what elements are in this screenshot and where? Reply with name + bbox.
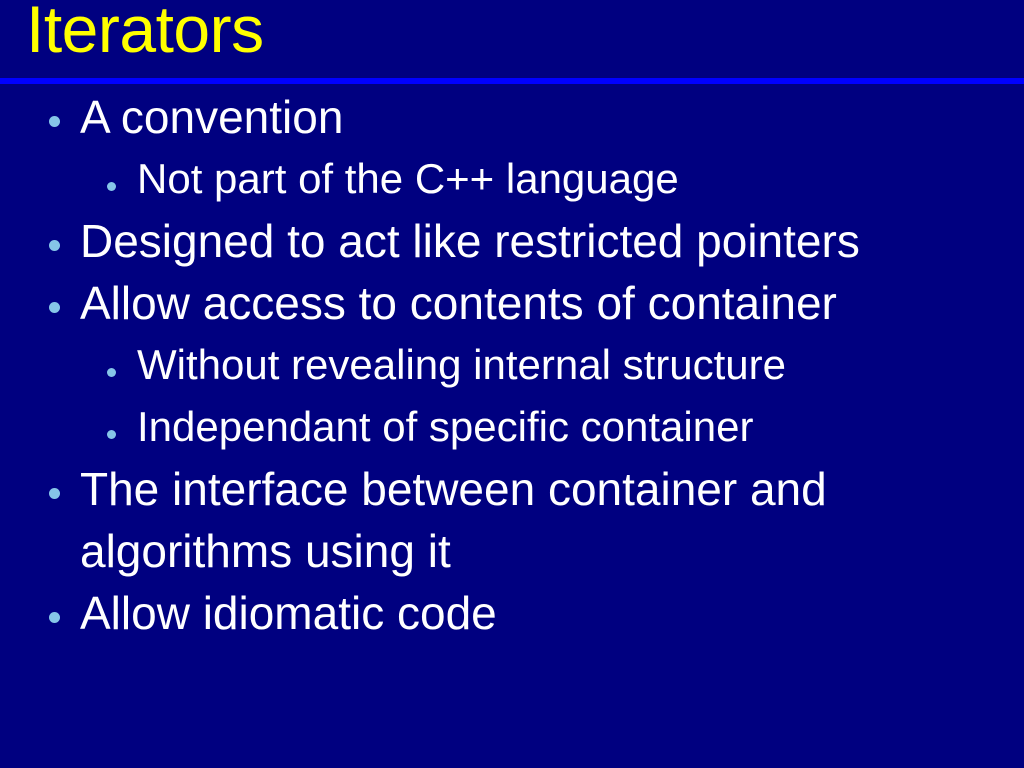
bullet-item: Allow access to contents of container — [0, 272, 1024, 334]
bullet-marker-icon — [49, 612, 60, 623]
bullet-marker-icon — [107, 368, 116, 377]
bullet-marker-icon — [49, 240, 60, 251]
bullet-text: The interface between container and algo… — [80, 458, 960, 582]
bullet-marker-icon — [107, 182, 116, 191]
bullet-item: A convention — [0, 86, 1024, 148]
bullet-text: Designed to act like restricted pointers — [80, 210, 980, 272]
bullet-marker-icon — [107, 430, 116, 439]
bullet-marker-icon — [49, 302, 60, 313]
page-title: Iterators — [26, 0, 264, 62]
bullet-item: The interface between container and algo… — [0, 458, 1024, 582]
bullet-marker-icon — [49, 488, 60, 499]
bullet-text: Not part of the C++ language — [137, 148, 997, 210]
bullet-text: Allow idiomatic code — [80, 582, 980, 644]
slide-body: A convention Not part of the C++ languag… — [0, 86, 1024, 768]
bullet-item: Without revealing internal structure — [0, 334, 1024, 396]
bullet-text: A convention — [80, 86, 980, 148]
bullet-item: Not part of the C++ language — [0, 148, 1024, 210]
bullet-text: Independant of specific container — [137, 396, 997, 458]
presentation-slide: Iterators A convention Not part of the C… — [0, 0, 1024, 768]
bullet-item: Independant of specific container — [0, 396, 1024, 458]
title-divider-rule — [0, 78, 1024, 84]
bullet-item: Designed to act like restricted pointers — [0, 210, 1024, 272]
bullet-marker-icon — [49, 116, 60, 127]
bullet-text: Allow access to contents of container — [80, 272, 980, 334]
bullet-text: Without revealing internal structure — [137, 334, 997, 396]
slide-title-area: Iterators — [0, 0, 1024, 84]
bullet-item: Allow idiomatic code — [0, 582, 1024, 644]
